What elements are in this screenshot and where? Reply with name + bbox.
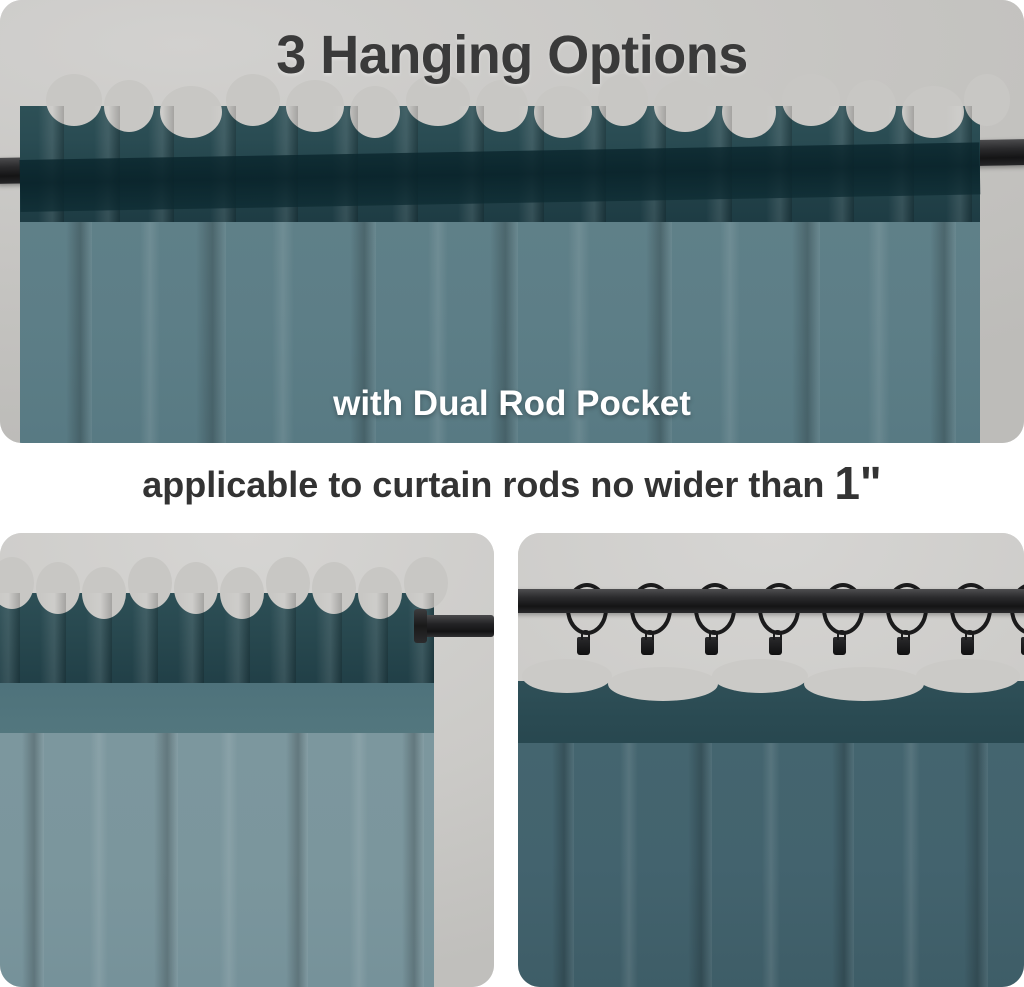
curtain-fold [286, 733, 308, 987]
curtain-fold [902, 743, 920, 987]
curtain-fold [22, 733, 44, 987]
curtain-clip-icon [641, 637, 654, 655]
curtain-fold [688, 743, 712, 987]
ruffle-notch [534, 86, 592, 138]
pole-top-gather [270, 593, 296, 697]
curtain-fold [832, 743, 854, 987]
ruffle-notch [286, 80, 344, 132]
pole-top-notch [36, 562, 80, 614]
curtain-clip-icon [705, 637, 718, 655]
curtain-top-notch [804, 667, 924, 701]
curtain-top-notch [522, 659, 612, 693]
curtain-fold [154, 733, 178, 987]
rod-finial-icon [414, 609, 427, 643]
curtain-fold [964, 743, 988, 987]
curtain-clip-icon [577, 637, 590, 655]
pole-top-notch [220, 567, 264, 619]
rod-width-note-text: applicable to curtain rods no wider than [142, 464, 834, 505]
ruffle-notch [722, 86, 776, 138]
pole-top-notch [174, 562, 218, 614]
ruffle-notch [104, 80, 154, 132]
curtain-clip-icon [897, 637, 910, 655]
curtain-rod-icon [418, 615, 494, 637]
curtain-fold [350, 733, 368, 987]
pole-top-notch [266, 557, 310, 609]
page-title: 3 Hanging Options [0, 24, 1024, 86]
rod-width-note: applicable to curtain rods no wider than… [0, 456, 1024, 510]
curtain-clip-icon [961, 637, 974, 655]
panel-clips: with Clips(not included) [518, 533, 1024, 987]
curtain-top-notch [916, 659, 1020, 693]
caption-dual-rod-pocket: with Dual Rod Pocket [0, 384, 1024, 424]
curtain-clip-icon [769, 637, 782, 655]
ruffle-notch [350, 86, 400, 138]
pole-top-notch [82, 567, 126, 619]
curtain-fold [762, 743, 780, 987]
curtain-body-bottom-left [0, 733, 434, 987]
pole-top-notch [312, 562, 356, 614]
ruffle-notch [160, 86, 222, 138]
curtain-clip-icon [833, 637, 846, 655]
curtain-fold [220, 733, 238, 987]
infographic-canvas: with Dual Rod Pocket 3 Hanging Options a… [0, 0, 1024, 987]
curtain-fold [402, 733, 424, 987]
ruffle-notch [654, 80, 716, 132]
pole-top-notch [358, 567, 402, 619]
curtain-rod-icon [518, 589, 1024, 613]
curtain-fold [90, 733, 108, 987]
ruffle-notch [476, 80, 528, 132]
ruffle-notch [902, 86, 964, 138]
curtain-pole-top-header [0, 593, 434, 697]
ruffle-notch [846, 80, 896, 132]
rod-width-measurement: 1" [834, 457, 881, 509]
curtain-top-notch [608, 667, 718, 701]
curtain-fold [620, 743, 638, 987]
pole-top-gather [132, 593, 158, 697]
panel-pole-top: Pole Top -with bottom hem [0, 533, 494, 987]
pole-top-notch [404, 557, 448, 609]
curtain-body-bottom-right [518, 743, 1024, 987]
curtain-fold [552, 743, 574, 987]
pole-top-notch [128, 557, 172, 609]
curtain-top-notch [712, 659, 808, 693]
